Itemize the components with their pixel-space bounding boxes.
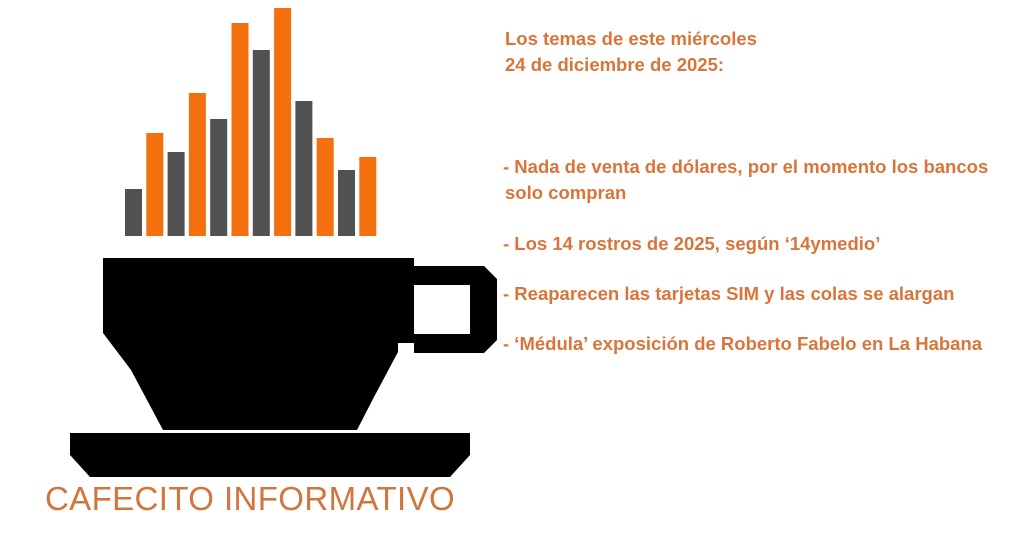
steam-bar — [189, 93, 206, 236]
logo-block: CAFECITO INFORMATIVO — [0, 0, 500, 536]
brand-caption: CAFECITO INFORMATIVO — [0, 480, 500, 518]
headline-line-2: 24 de diciembre de 2025: — [505, 52, 1005, 78]
coffee-cup-icon — [103, 258, 414, 430]
steam-bar — [359, 157, 376, 236]
topic-item: - Reaparecen las tarjetas SIM y las cola… — [505, 281, 1005, 307]
topic-item: - Nada de venta de dólares, por el momen… — [505, 154, 1005, 207]
topic-item: - ‘Médula’ exposición de Roberto Fabelo … — [505, 331, 1005, 357]
topics-panel: Los temas de este miércoles 24 de diciem… — [505, 26, 1005, 506]
coffee-cup-logo — [0, 0, 500, 490]
steam-bar — [274, 8, 291, 236]
steam-bar — [295, 101, 312, 236]
steam-bar — [125, 189, 142, 236]
headline-line-1: Los temas de este miércoles — [505, 26, 1005, 52]
steam-bar — [168, 152, 185, 236]
saucer-icon — [70, 433, 470, 477]
steam-bar — [253, 50, 270, 236]
steam-bar-chart — [125, 8, 376, 236]
topics-list: - Nada de venta de dólares, por el momen… — [505, 154, 1005, 357]
headline: Los temas de este miércoles 24 de diciem… — [505, 26, 1005, 79]
cafecito-informativo-graphic: CAFECITO INFORMATIVO Los temas de este m… — [0, 0, 1024, 536]
steam-bar — [338, 170, 355, 236]
steam-bar — [210, 119, 227, 236]
steam-bar — [232, 23, 249, 236]
steam-bar — [146, 133, 163, 236]
topic-item: - Los 14 rostros de 2025, según ‘14ymedi… — [505, 231, 1005, 257]
steam-bar — [317, 138, 334, 236]
